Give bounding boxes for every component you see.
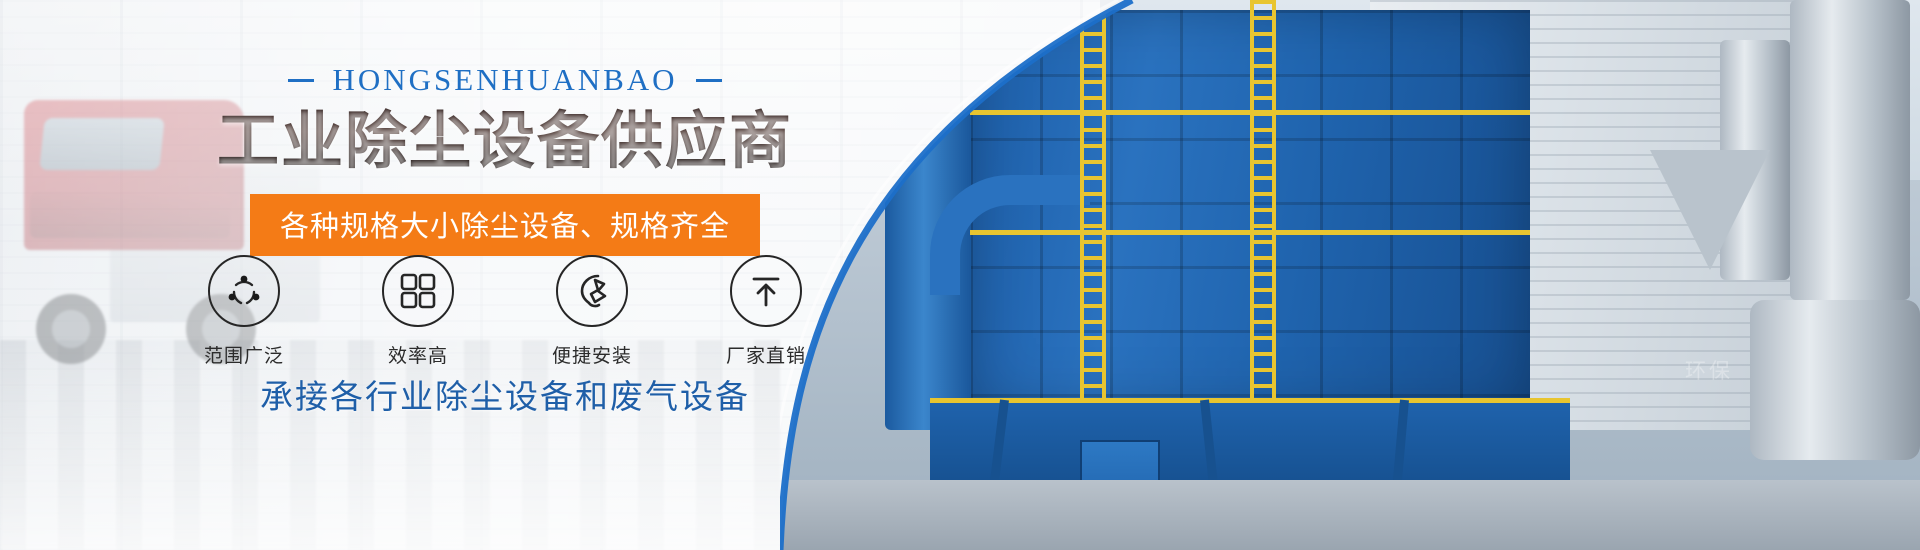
feature-label: 效率高	[388, 341, 448, 368]
headline: 工业除尘设备供应商	[0, 108, 1010, 175]
subtitle-text: 各种规格大小除尘设备、规格齐全	[280, 209, 730, 243]
banner-content: HONGSENHUANBAO 工业除尘设备供应商 各种规格大小除尘设备、规格齐全	[0, 0, 1010, 550]
yellow-railing-lower	[930, 398, 1570, 403]
dash-right-icon	[696, 79, 722, 82]
feature-item-direct-sales[interactable]: 厂家直销	[712, 255, 820, 368]
feature-item-range[interactable]: 范围广泛	[190, 255, 298, 368]
eyebrow-text: HONGSENHUANBAO	[332, 62, 677, 98]
feature-label: 便捷安装	[552, 341, 632, 368]
yellow-ladder-left	[1080, 0, 1106, 420]
feature-item-installation[interactable]: 便捷安装	[538, 255, 646, 368]
yellow-ladder-right	[1250, 0, 1276, 420]
eyebrow-row: HONGSENHUANBAO	[0, 62, 1010, 98]
promotional-banner: 环保 HONGSENHUANBAO 工业除尘设备供应商 各种规格大小除尘设备、规…	[0, 0, 1920, 550]
subtitle-orange-bar: 各种规格大小除尘设备、规格齐全	[250, 194, 760, 256]
feature-item-efficiency[interactable]: 效率高	[364, 255, 472, 368]
feature-label: 厂家直销	[726, 341, 806, 368]
feature-label: 范围广泛	[204, 341, 284, 368]
silo-lower-tank	[1750, 300, 1920, 460]
hopper-cone	[1650, 150, 1770, 270]
network-nodes-icon	[208, 255, 280, 327]
dash-left-icon	[288, 79, 314, 82]
tagline: 承接各行业除尘设备和废气设备	[0, 370, 1010, 418]
wrench-tool-icon	[556, 255, 628, 327]
silo-right-large	[1790, 0, 1910, 300]
upload-arrow-icon	[730, 255, 802, 327]
feature-list: 范围广泛 效率高	[0, 255, 1010, 368]
grid-four-squares-icon	[382, 255, 454, 327]
